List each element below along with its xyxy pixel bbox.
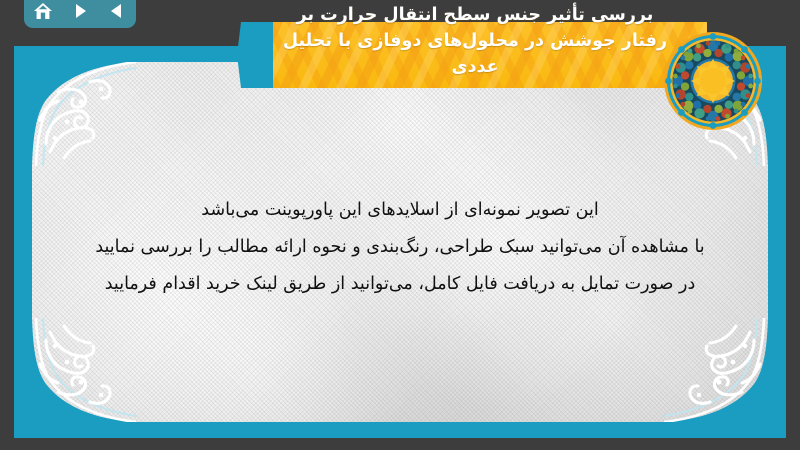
slide-canvas: این تصویر نمونه‌ای از اسلایدهای این پاور…	[32, 62, 768, 422]
presentation-slide-viewer: این تصویر نمونه‌ای از اسلایدهای این پاور…	[0, 0, 800, 450]
home-icon	[33, 2, 53, 21]
title-line-3: عددی	[250, 54, 700, 80]
slide-body-text: این تصویر نمونه‌ای از اسلایدهای این پاور…	[72, 192, 728, 303]
next-slide-icon	[71, 2, 89, 20]
body-line-3: در صورت تمایل به دریافت فایل کامل، می‌تو…	[72, 266, 728, 303]
slide-title: بررسی تأثیر جنس سطح انتقال حرارت بر رفتا…	[250, 2, 700, 80]
title-line-1: بررسی تأثیر جنس سطح انتقال حرارت بر	[250, 2, 700, 28]
home-button[interactable]	[30, 0, 56, 23]
next-slide-button[interactable]	[67, 0, 93, 23]
title-line-2: رفتار جوشش در محلول‌های دوفازی با تحلیل	[250, 28, 700, 54]
persian-medallion-icon	[663, 31, 763, 131]
arabesque-corner-icon	[32, 62, 136, 166]
previous-slide-button[interactable]	[104, 0, 130, 23]
previous-slide-icon	[108, 2, 126, 20]
arabesque-corner-icon	[664, 318, 768, 422]
arabesque-corner-icon	[32, 318, 136, 422]
body-line-1: این تصویر نمونه‌ای از اسلایدهای این پاور…	[72, 192, 728, 229]
slide-navigation-bar	[24, 0, 136, 28]
body-line-2: با مشاهده آن می‌توانید سبک طراحی، رنگ‌بن…	[72, 229, 728, 266]
